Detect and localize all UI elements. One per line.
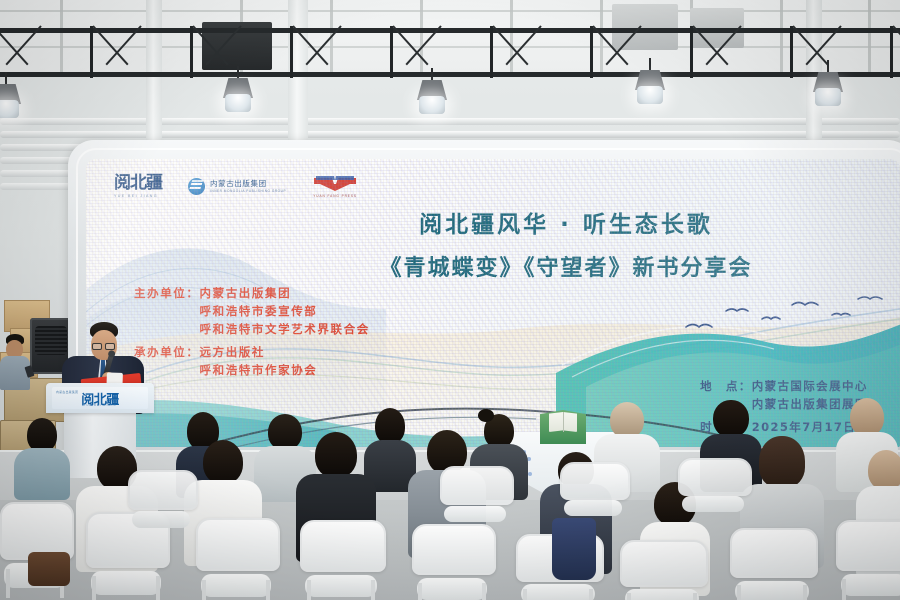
coorganizer-value: 呼和浩特市作家协会 <box>200 362 318 380</box>
logo-yue-beijiang-text: 阅北疆 <box>114 175 162 192</box>
host-value: 呼和浩特市委宣传部 <box>200 303 370 321</box>
hair-bun <box>478 409 494 422</box>
podium-top: 内蒙古出版集团 阅北疆 YUE BEI JIANG <box>46 383 154 413</box>
event-title: 阅北疆风华 · 听生态长歌 <box>266 205 866 239</box>
logo-yuanfang-press: YUAN FANG PRESS <box>312 175 358 198</box>
host-value: 内蒙古出版集团 <box>200 285 370 303</box>
folding-chair <box>620 540 704 600</box>
event-photo-scene: 阅北疆 YUE BEI JIANG 内蒙古出版集团 INNER MONGOLIA… <box>0 0 900 600</box>
audience-head <box>27 418 57 452</box>
folding-chair <box>560 462 626 522</box>
logo-nmg-text: 内蒙古出版集团 <box>210 180 286 188</box>
audience-head <box>610 402 644 438</box>
yuanfang-book-mark-icon <box>312 175 358 193</box>
folding-chair <box>412 524 492 600</box>
ceiling-truss <box>0 26 900 78</box>
audience-head <box>713 400 749 438</box>
folding-chair <box>196 518 276 600</box>
green-book-display-stand <box>540 410 586 444</box>
logo-yue-beijiang-en: YUE BEI JIANG <box>114 194 158 198</box>
event-headline-block: 阅北疆风华 · 听生态长歌 《青城蝶变》《守望者》新书分享会 <box>266 205 866 282</box>
logo-inner-mongolia-publishing-group: 内蒙古出版集团 INNER MONGOLIA PUBLISHING GROUP <box>188 178 286 195</box>
audience-head <box>850 398 884 436</box>
folding-chair <box>730 528 814 600</box>
folding-chair <box>440 466 510 528</box>
audience-head <box>203 440 243 484</box>
podium-sign-sub: YUE BEI JIANG <box>83 403 116 407</box>
logo-nmg-en: INNER MONGOLIA PUBLISHING GROUP <box>210 190 286 193</box>
audience-head <box>868 450 900 490</box>
logo-yue-beijiang: 阅北疆 YUE BEI JIANG <box>114 175 162 198</box>
audience-head <box>759 436 805 488</box>
folding-chair <box>300 520 382 600</box>
logo-yuanfang-en: YUAN FANG PRESS <box>313 194 357 198</box>
audience-head <box>315 432 357 478</box>
audience-torso <box>14 448 70 500</box>
bird-flock <box>686 297 882 327</box>
blue-bag <box>552 518 596 580</box>
speaker-glasses-icon <box>92 343 114 348</box>
podium-sign: 内蒙古出版集团 阅北疆 YUE BEI JIANG <box>52 387 148 409</box>
book-spine <box>563 412 564 432</box>
host-value: 呼和浩特市文学艺术界联合会 <box>200 321 370 339</box>
screen-logo-row: 阅北疆 YUE BEI JIANG 内蒙古出版集团 INNER MONGOLIA… <box>114 175 358 198</box>
folding-chair <box>678 458 748 518</box>
event-subtitle: 《青城蝶变》《守望者》新书分享会 <box>266 250 866 282</box>
audience-head <box>375 408 405 444</box>
podium-sign-tag: 内蒙古出版集团 <box>56 390 78 394</box>
led-screen: 阅北疆 YUE BEI JIANG 内蒙古出版集团 INNER MONGOLIA… <box>86 159 900 447</box>
audience-member <box>14 418 70 498</box>
organizer-block: 主办单位： 内蒙古出版集团 呼和浩特市委宣传部 呼和浩特市文学艺术界联合会 承办… <box>134 285 370 380</box>
place-value: 内蒙古国际会展中心 <box>752 377 868 395</box>
folding-chair <box>836 520 900 600</box>
handbag <box>28 552 70 586</box>
coorganizer-value: 远方出版社 <box>200 344 318 362</box>
publishing-group-mark-icon <box>188 178 205 195</box>
folding-chair <box>128 470 194 534</box>
